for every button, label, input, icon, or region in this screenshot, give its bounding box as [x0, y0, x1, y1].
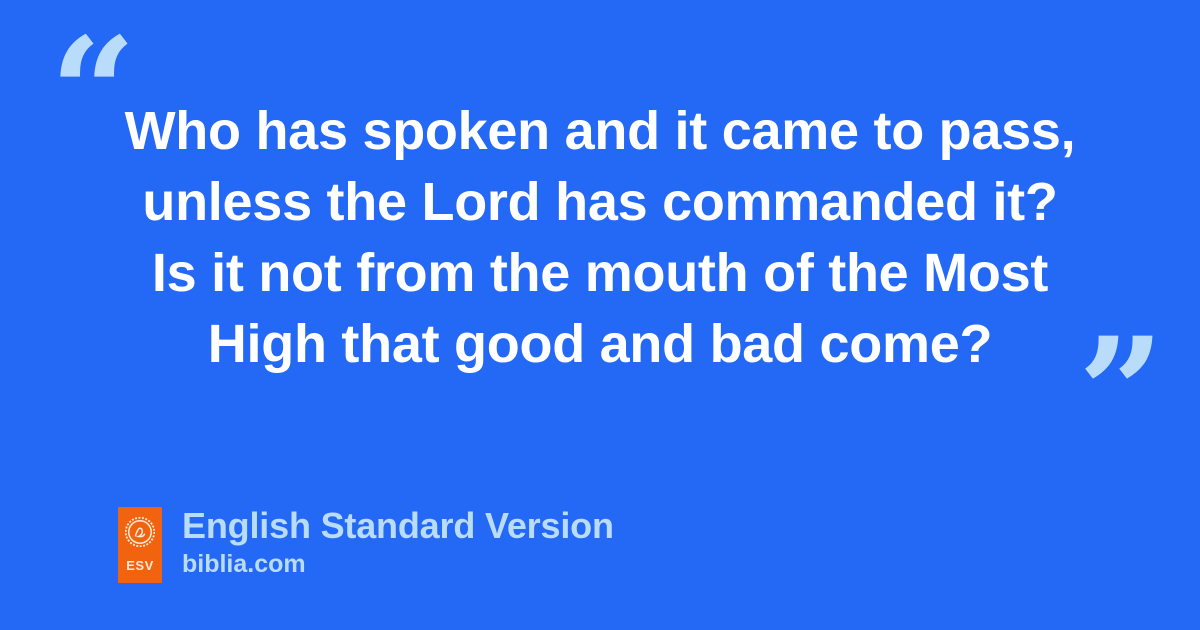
- bible-version-title: English Standard Version: [182, 505, 614, 547]
- brand-text-group: English Standard Version biblia.com: [182, 505, 614, 579]
- site-url: biblia.com: [182, 549, 614, 579]
- quote-text-block: Who has spoken and it came to pass, unle…: [100, 96, 1100, 380]
- esv-seal-icon: [125, 517, 155, 547]
- verse-quote-card: “ Who has spoken and it came to pass, un…: [0, 0, 1200, 630]
- esv-logo-label: ESV: [118, 559, 162, 572]
- quote-line: Who has spoken and it came to pass,: [100, 96, 1100, 167]
- close-quote-icon: ”: [1078, 318, 1161, 468]
- quote-line: Is it not from the mouth of the Most: [100, 238, 1100, 309]
- quote-line: High that good and bad come?: [100, 309, 1100, 380]
- quote-line: unless the Lord has commanded it?: [100, 167, 1100, 238]
- esv-logo-tile: ESV: [118, 507, 162, 583]
- branding-footer: ESV English Standard Version biblia.com: [118, 505, 614, 583]
